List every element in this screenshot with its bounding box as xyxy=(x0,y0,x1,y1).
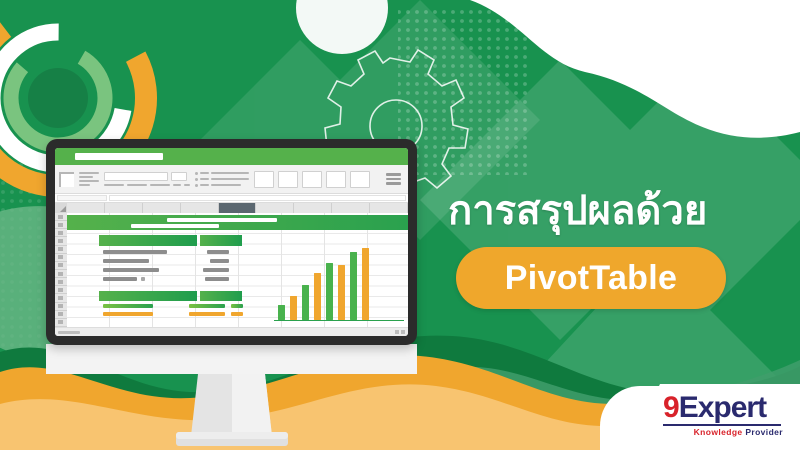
chart-bar xyxy=(302,285,309,319)
status-text-placeholder xyxy=(58,331,80,334)
pivot-total-header xyxy=(200,291,242,301)
column-header[interactable] xyxy=(332,203,370,213)
column-header[interactable] xyxy=(370,203,408,213)
title-placeholder xyxy=(75,153,163,160)
chart-bar xyxy=(338,265,345,320)
row-header[interactable] xyxy=(55,246,67,254)
column-header[interactable] xyxy=(181,203,219,213)
column-header-selected[interactable] xyxy=(219,203,257,213)
pivot-total-bar-orange xyxy=(231,312,243,316)
row-header[interactable] xyxy=(55,270,67,278)
pivot-cell-text xyxy=(103,277,137,281)
column-header[interactable] xyxy=(105,203,143,213)
row-header[interactable] xyxy=(55,303,67,311)
chart-bar xyxy=(314,273,321,320)
pivot-total-bar-orange xyxy=(103,312,153,316)
chart-bar xyxy=(290,296,297,319)
paste-icon[interactable] xyxy=(59,172,74,187)
chart-bar xyxy=(350,252,357,319)
pivot-total-bar-green xyxy=(231,304,243,308)
font-group[interactable] xyxy=(104,172,190,186)
pivot-total-bar-green xyxy=(189,304,225,308)
formula-bar[interactable] xyxy=(55,194,408,203)
page-title: การสรุปผลด้วย xyxy=(448,190,788,232)
pivottable-badge-label: PivotTable xyxy=(505,259,677,298)
row-header[interactable] xyxy=(55,311,67,319)
row-header[interactable] xyxy=(55,278,67,286)
pivot-cell-text xyxy=(103,268,159,272)
row-header[interactable] xyxy=(55,262,67,270)
formula-input[interactable] xyxy=(109,195,406,201)
pivot-cell-text xyxy=(103,259,149,263)
chart-bar xyxy=(362,248,369,320)
pivot-bar-chart[interactable] xyxy=(274,237,404,321)
cell-grid[interactable] xyxy=(67,213,408,327)
column-header[interactable] xyxy=(143,203,181,213)
status-bar xyxy=(55,327,408,336)
row-header[interactable] xyxy=(55,237,67,245)
pivot-value-text xyxy=(205,277,229,281)
column-header[interactable] xyxy=(256,203,294,213)
pivot-cell-text xyxy=(103,250,167,254)
view-buttons[interactable] xyxy=(395,330,405,334)
pivot-value-text xyxy=(210,259,229,263)
logo-tagline: Knowledge Provider xyxy=(663,427,783,437)
clipboard-icon[interactable] xyxy=(79,172,99,186)
row-header[interactable] xyxy=(55,286,67,294)
column-header[interactable] xyxy=(294,203,332,213)
brand-logo: 9 Expert Knowledge Provider xyxy=(663,393,783,435)
row-header-column[interactable] xyxy=(55,213,67,327)
select-all-corner[interactable] xyxy=(55,203,67,213)
pivot-total-header xyxy=(99,291,197,301)
column-header-row[interactable] xyxy=(55,203,408,213)
row-header[interactable] xyxy=(55,319,67,327)
styles-group[interactable] xyxy=(254,171,370,188)
pivot-cell-text xyxy=(141,277,145,281)
logo-underline xyxy=(663,424,781,426)
banner-canvas: การสรุปผลด้วย PivotTable 9 Expert Knowle… xyxy=(0,0,800,450)
column-header[interactable] xyxy=(67,203,105,213)
ribbon-toolbar[interactable] xyxy=(55,165,408,194)
pivot-header-row xyxy=(99,235,197,246)
pivot-title-band xyxy=(67,215,408,230)
logo-tagline-provider: Provider xyxy=(745,427,783,437)
chart-bar xyxy=(326,263,333,319)
row-header[interactable] xyxy=(55,221,67,229)
pivot-value-text xyxy=(207,250,229,254)
app-title-bar xyxy=(55,148,408,165)
pivot-header-row xyxy=(200,235,242,246)
sheet-body[interactable] xyxy=(55,213,408,327)
menu-icon[interactable] xyxy=(386,173,401,185)
pivot-total-bar-orange xyxy=(189,312,225,316)
row-header[interactable] xyxy=(55,213,67,221)
row-header[interactable] xyxy=(55,254,67,262)
row-header[interactable] xyxy=(55,294,67,302)
pivot-value-text xyxy=(203,268,229,272)
chart-axis xyxy=(274,320,404,322)
chart-bars xyxy=(278,240,402,320)
logo-tagline-knowledge: Knowledge xyxy=(694,427,746,437)
logo-expert: Expert xyxy=(679,393,766,423)
monitor-bezel xyxy=(46,139,417,345)
monitor-screen xyxy=(55,148,408,336)
pivot-total-bar-green xyxy=(103,304,153,308)
row-header[interactable] xyxy=(55,229,67,237)
chart-bar xyxy=(278,305,285,319)
pivottable-badge: PivotTable xyxy=(456,247,726,309)
logo-nine: 9 xyxy=(663,393,679,423)
name-box[interactable] xyxy=(57,195,107,201)
alignment-group[interactable] xyxy=(195,172,249,187)
